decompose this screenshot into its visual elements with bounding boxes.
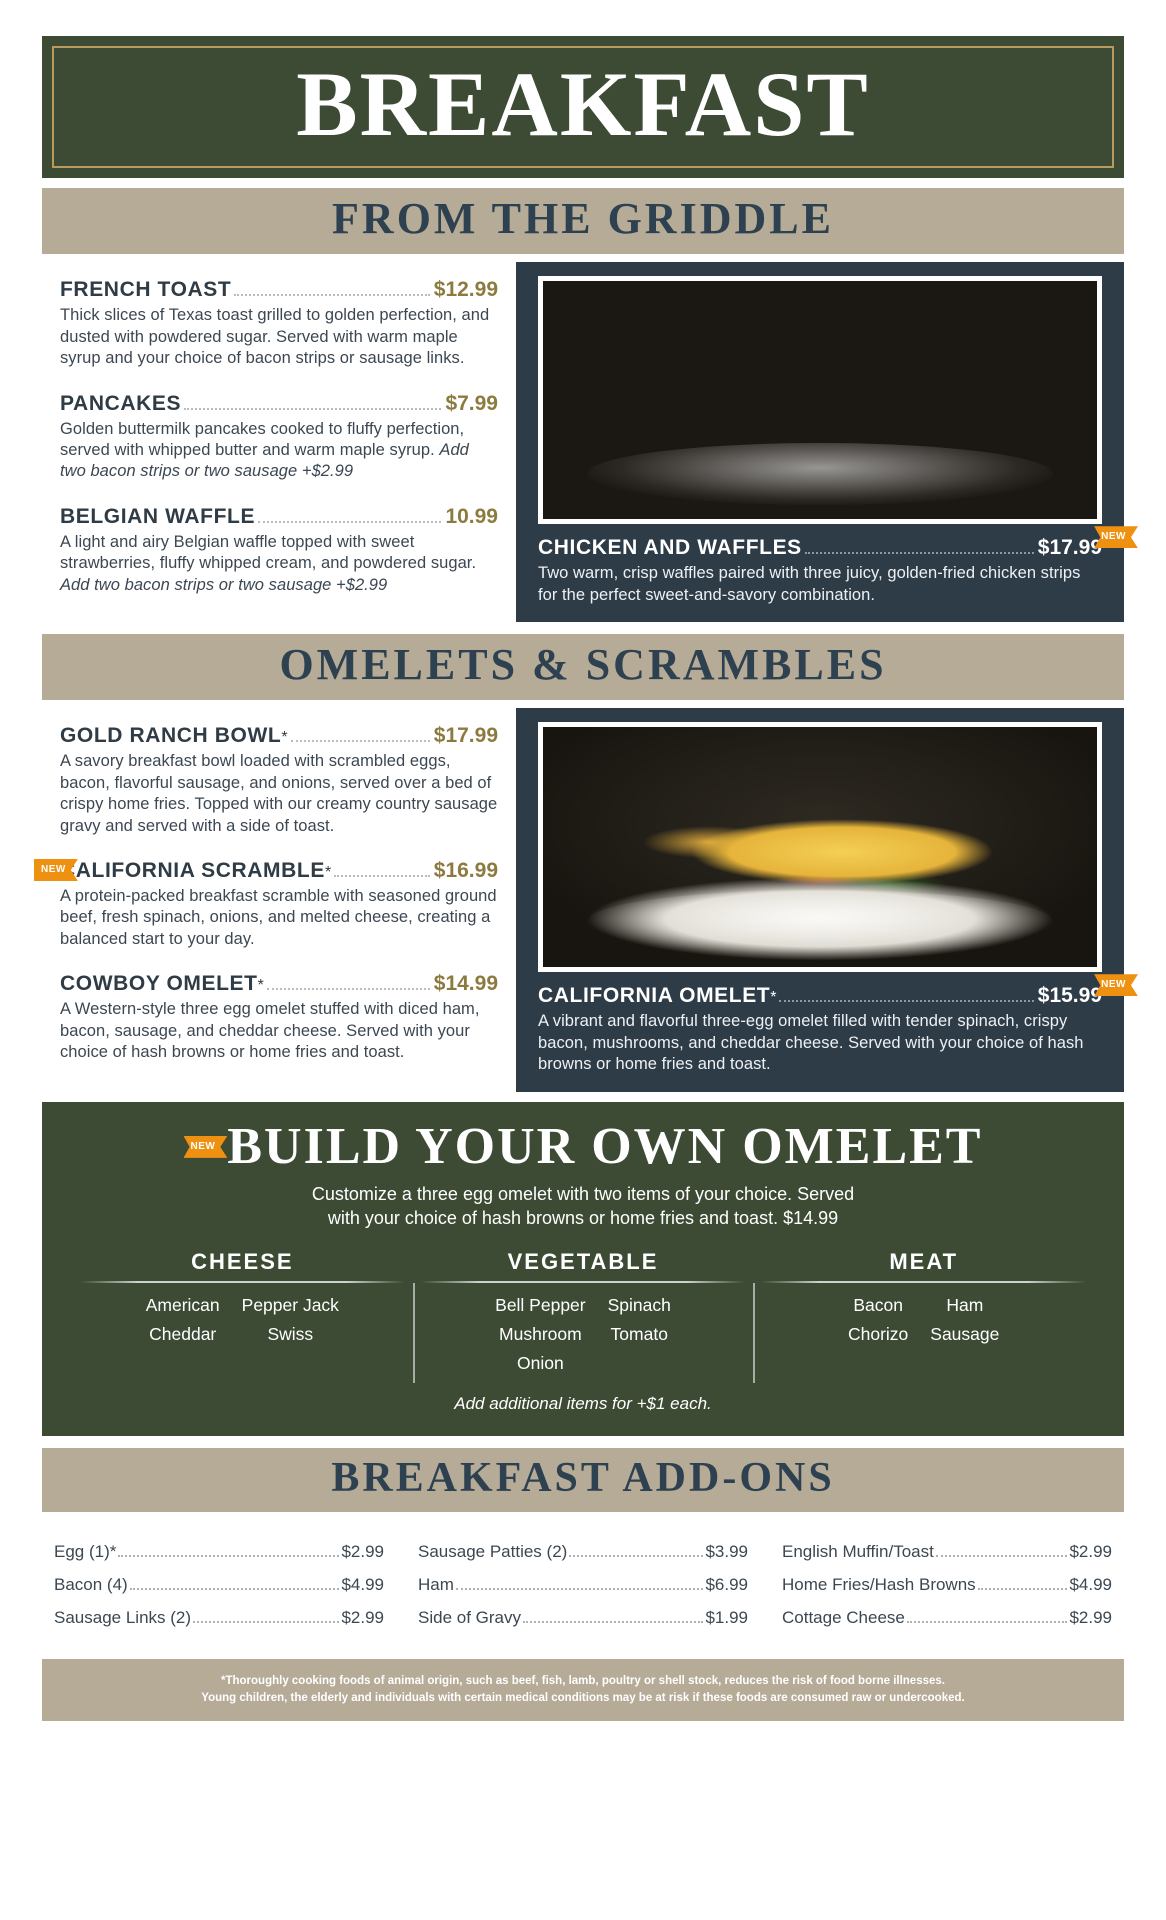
addon-name: English Muffin/Toast: [782, 1542, 934, 1562]
section-title-griddle: FROM THE GRIDDLE: [42, 196, 1124, 242]
addon-row[interactable]: Side of Gravy $1.99: [418, 1608, 748, 1628]
menu-item-description: Thick slices of Texas toast grilled to g…: [60, 305, 498, 369]
menu-item-name: GOLD RANCH BOWL: [60, 724, 281, 748]
menu-item-price: $12.99: [434, 278, 498, 302]
byo-column-title: VEGETABLE: [421, 1249, 746, 1281]
menu-item-name: COWBOY OMELET: [60, 972, 258, 996]
byo-option[interactable]: Mushroom: [495, 1324, 585, 1345]
menu-item-price: $17.99: [1038, 536, 1102, 560]
addon-row[interactable]: Ham $6.99: [418, 1575, 748, 1595]
byo-column-cheese: CHEESE American Cheddar Pepper Jack Swis…: [72, 1249, 413, 1374]
dot-leader: [193, 1621, 339, 1623]
menu-item-name: CHICKEN AND WAFFLES: [538, 536, 802, 560]
addon-name: Home Fries/Hash Browns: [782, 1575, 976, 1595]
byo-option[interactable]: Pepper Jack: [242, 1295, 339, 1316]
addon-price: $6.99: [705, 1575, 748, 1595]
dot-leader: [184, 408, 441, 410]
menu-item-description-main: Golden buttermilk pancakes cooked to flu…: [60, 420, 464, 459]
byo-column-title: CHEESE: [80, 1249, 405, 1281]
dot-leader: [118, 1555, 339, 1557]
feature-caption-chicken-waffles[interactable]: CHICKEN AND WAFFLES $17.99 Two warm, cri…: [516, 524, 1124, 622]
feature-caption-california-omelet[interactable]: CALIFORNIA OMELET* $15.99 A vibrant and …: [516, 972, 1124, 1091]
byo-option[interactable]: Bacon: [848, 1295, 908, 1316]
plate-highlight: [587, 890, 1052, 952]
addon-row[interactable]: Sausage Links (2) $2.99: [54, 1608, 384, 1628]
byo-option[interactable]: Chorizo: [848, 1324, 908, 1345]
menu-item-name: BELGIAN WAFFLE: [60, 505, 255, 529]
addon-name: Sausage Patties (2): [418, 1542, 567, 1562]
byo-option-grid: Bacon Chorizo Ham Sausage: [761, 1295, 1086, 1345]
addon-row[interactable]: Cottage Cheese $2.99: [782, 1608, 1112, 1628]
new-badge: NEW: [1094, 974, 1138, 996]
dot-leader: [907, 1621, 1068, 1623]
menu-item-headline: COWBOY OMELET* $14.99: [60, 972, 498, 996]
menu-item-headline: CHICKEN AND WAFFLES $17.99: [538, 536, 1102, 560]
menu-item-description: Two warm, crisp waffles paired with thre…: [538, 563, 1102, 606]
footer-disclaimer-line1: *Thoroughly cooking foods of animal orig…: [82, 1673, 1084, 1690]
addons-grid: Egg (1)* $2.99 Bacon (4) $4.99 Sausage L…: [42, 1528, 1124, 1645]
dot-leader: [291, 740, 430, 742]
addon-name: Sausage Links (2): [54, 1608, 191, 1628]
griddle-feature-panel: CHICKEN AND WAFFLES $17.99 Two warm, cri…: [516, 262, 1124, 622]
new-badge: NEW: [184, 1136, 228, 1158]
menu-item-description: A Western-style three egg omelet stuffed…: [60, 999, 498, 1063]
menu-title-banner: BREAKFAST: [42, 36, 1124, 178]
byo-option-group: Spinach Tomato: [608, 1295, 671, 1374]
byo-column-meat: MEAT Bacon Chorizo Ham Sausage: [753, 1249, 1094, 1374]
addon-price: $1.99: [705, 1608, 748, 1628]
addons-column-2: Sausage Patties (2) $3.99 Ham $6.99 Side…: [418, 1542, 748, 1641]
menu-item-belgian-waffle[interactable]: BELGIAN WAFFLE 10.99 A light and airy Be…: [60, 505, 498, 596]
feature-photo-wrap: [516, 708, 1124, 972]
byo-option[interactable]: Bell Pepper: [495, 1295, 585, 1316]
section-header-griddle: FROM THE GRIDDLE: [42, 188, 1124, 254]
addon-price: $2.99: [341, 1608, 384, 1628]
dot-leader: [805, 552, 1034, 554]
section-block-omelets: GOLD RANCH BOWL* $17.99 A savory breakfa…: [42, 708, 1124, 1091]
byo-column-vegetable: VEGETABLE Bell Pepper Mushroom Onion Spi…: [413, 1249, 754, 1374]
addon-name: Cottage Cheese: [782, 1608, 905, 1628]
menu-item-california-scramble[interactable]: NEW CALIFORNIA SCRAMBLE* $16.99 A protei…: [60, 859, 498, 950]
menu-item-gold-ranch-bowl[interactable]: GOLD RANCH BOWL* $17.99 A savory breakfa…: [60, 724, 498, 837]
addon-price: $3.99: [705, 1542, 748, 1562]
build-your-own-omelet-panel: NEW BUILD YOUR OWN OMELET Customize a th…: [42, 1102, 1124, 1436]
build-your-own-title: BUILD YOUR OWN OMELET: [227, 1120, 982, 1175]
menu-item-price: $7.99: [445, 392, 498, 416]
byo-option-group: American Cheddar: [146, 1295, 220, 1345]
menu-item-description: A protein-packed breakfast scramble with…: [60, 886, 498, 950]
dot-leader: [130, 1588, 340, 1590]
byo-column-title: MEAT: [761, 1249, 1086, 1281]
dot-leader: [569, 1555, 703, 1557]
menu-item-headline: CALIFORNIA OMELET* $15.99: [538, 984, 1102, 1008]
menu-item-price: $14.99: [434, 972, 498, 996]
menu-page: BREAKFAST FROM THE GRIDDLE FRENCH TOAST …: [0, 0, 1166, 1920]
byo-option[interactable]: Tomato: [608, 1324, 671, 1345]
menu-item-description: A light and airy Belgian waffle topped w…: [60, 532, 498, 596]
build-your-own-columns: CHEESE American Cheddar Pepper Jack Swis…: [72, 1249, 1094, 1374]
addons-column-1: Egg (1)* $2.99 Bacon (4) $4.99 Sausage L…: [54, 1542, 384, 1641]
menu-item-headline: BELGIAN WAFFLE 10.99: [60, 505, 498, 529]
divider: [80, 1281, 405, 1283]
addon-row[interactable]: Sausage Patties (2) $3.99: [418, 1542, 748, 1562]
footer-disclaimer-line2: Young children, the elderly and individu…: [82, 1690, 1084, 1707]
menu-item-headline: CALIFORNIA SCRAMBLE* $16.99: [60, 859, 498, 883]
page-title: BREAKFAST: [54, 58, 1112, 150]
menu-item-name: CALIFORNIA SCRAMBLE: [60, 859, 325, 883]
build-your-own-subtitle-line1: Customize a three egg omelet with two it…: [312, 1184, 854, 1204]
byo-option-grid: American Cheddar Pepper Jack Swiss: [80, 1295, 405, 1345]
menu-item-name: FRENCH TOAST: [60, 278, 231, 302]
section-header-omelets: OMELETS & SCRAMBLES: [42, 634, 1124, 700]
addon-price: $2.99: [1069, 1608, 1112, 1628]
menu-item-headline: FRENCH TOAST $12.99: [60, 278, 498, 302]
california-omelet-photo: [538, 722, 1102, 972]
byo-option-group: Pepper Jack Swiss: [242, 1295, 339, 1345]
byo-option[interactable]: Cheddar: [146, 1324, 220, 1345]
omelets-items-column: GOLD RANCH BOWL* $17.99 A savory breakfa…: [42, 708, 516, 1091]
menu-item-price: $15.99: [1038, 984, 1102, 1008]
griddle-items-column: FRENCH TOAST $12.99 Thick slices of Texa…: [42, 262, 516, 622]
dot-leader: [936, 1555, 1068, 1557]
asterisk-marker: *: [281, 729, 287, 747]
byo-option-group: Bacon Chorizo: [848, 1295, 908, 1345]
menu-item-description: Golden buttermilk pancakes cooked to flu…: [60, 419, 498, 483]
byo-option-grid: Bell Pepper Mushroom Onion Spinach Tomat…: [421, 1295, 746, 1374]
asterisk-marker: *: [258, 977, 264, 995]
addon-price: $4.99: [341, 1575, 384, 1595]
divider: [421, 1281, 746, 1283]
menu-item-description: A vibrant and flavorful three-egg omelet…: [538, 1011, 1102, 1075]
dot-leader: [234, 294, 429, 296]
feature-photo-wrap: [516, 262, 1124, 524]
dot-leader: [978, 1588, 1068, 1590]
dot-leader: [334, 875, 430, 877]
dot-leader: [258, 521, 441, 523]
addon-name: Egg (1)*: [54, 1542, 116, 1562]
section-block-griddle: FRENCH TOAST $12.99 Thick slices of Texa…: [42, 262, 1124, 622]
addon-price: $4.99: [1069, 1575, 1112, 1595]
footer-disclaimer: *Thoroughly cooking foods of animal orig…: [42, 1659, 1124, 1722]
addon-row[interactable]: Home Fries/Hash Browns $4.99: [782, 1575, 1112, 1595]
chicken-and-waffles-photo: [538, 276, 1102, 524]
section-title-addons: BREAKFAST ADD-ONS: [42, 1456, 1124, 1500]
menu-item-headline: PANCAKES $7.99: [60, 392, 498, 416]
menu-item-price: $17.99: [434, 724, 498, 748]
addon-price: $2.99: [341, 1542, 384, 1562]
section-title-omelets: OMELETS & SCRAMBLES: [42, 642, 1124, 688]
asterisk-marker: *: [325, 864, 331, 882]
addon-row[interactable]: Egg (1)* $2.99: [54, 1542, 384, 1562]
menu-item-cowboy-omelet[interactable]: COWBOY OMELET* $14.99 A Western-style th…: [60, 972, 498, 1063]
dot-leader: [779, 1000, 1033, 1002]
menu-item-description-addon: Add two bacon strips or two sausage +$2.…: [60, 576, 387, 594]
byo-option[interactable]: Spinach: [608, 1295, 671, 1316]
menu-item-description-main: A light and airy Belgian waffle topped w…: [60, 533, 476, 572]
dot-leader: [267, 988, 430, 990]
section-header-addons: BREAKFAST ADD-ONS: [42, 1448, 1124, 1512]
addon-row[interactable]: English Muffin/Toast $2.99: [782, 1542, 1112, 1562]
byo-option-group: Bell Pepper Mushroom Onion: [495, 1295, 585, 1374]
byo-option[interactable]: Swiss: [242, 1324, 339, 1345]
byo-option-group: Ham Sausage: [930, 1295, 999, 1345]
build-your-own-note: Add additional items for +$1 each.: [72, 1394, 1094, 1414]
menu-item-pancakes[interactable]: PANCAKES $7.99 Golden buttermilk pancake…: [60, 392, 498, 483]
addon-name: Side of Gravy: [418, 1608, 521, 1628]
new-badge: NEW: [1094, 526, 1138, 548]
addon-price: $2.99: [1069, 1542, 1112, 1562]
menu-item-french-toast[interactable]: FRENCH TOAST $12.99 Thick slices of Texa…: [60, 278, 498, 369]
menu-title-frame: BREAKFAST: [52, 46, 1114, 168]
menu-item-name: CALIFORNIA OMELET: [538, 984, 770, 1008]
menu-item-headline: GOLD RANCH BOWL* $17.99: [60, 724, 498, 748]
byo-option[interactable]: American: [146, 1295, 220, 1316]
addons-column-3: English Muffin/Toast $2.99 Home Fries/Ha…: [782, 1542, 1112, 1641]
byo-option[interactable]: Ham: [930, 1295, 999, 1316]
menu-item-price: $16.99: [434, 859, 498, 883]
addon-name: Ham: [418, 1575, 454, 1595]
menu-item-price: 10.99: [445, 505, 498, 529]
byo-option[interactable]: Onion: [495, 1353, 585, 1374]
build-your-own-subtitle-line2: with your choice of hash browns or home …: [328, 1208, 838, 1228]
menu-item-name: PANCAKES: [60, 392, 181, 416]
byo-option[interactable]: Sausage: [930, 1324, 999, 1345]
addon-name: Bacon (4): [54, 1575, 128, 1595]
divider: [761, 1281, 1086, 1283]
menu-item-description: A savory breakfast bowl loaded with scra…: [60, 751, 498, 837]
plate-highlight: [587, 443, 1052, 505]
build-your-own-title-row: NEW BUILD YOUR OWN OMELET: [72, 1120, 1094, 1175]
asterisk-marker: *: [770, 989, 776, 1007]
dot-leader: [456, 1588, 704, 1590]
omelets-feature-panel: CALIFORNIA OMELET* $15.99 A vibrant and …: [516, 708, 1124, 1091]
build-your-own-subtitle: Customize a three egg omelet with two it…: [203, 1182, 963, 1231]
dot-leader: [523, 1621, 703, 1623]
addon-row[interactable]: Bacon (4) $4.99: [54, 1575, 384, 1595]
